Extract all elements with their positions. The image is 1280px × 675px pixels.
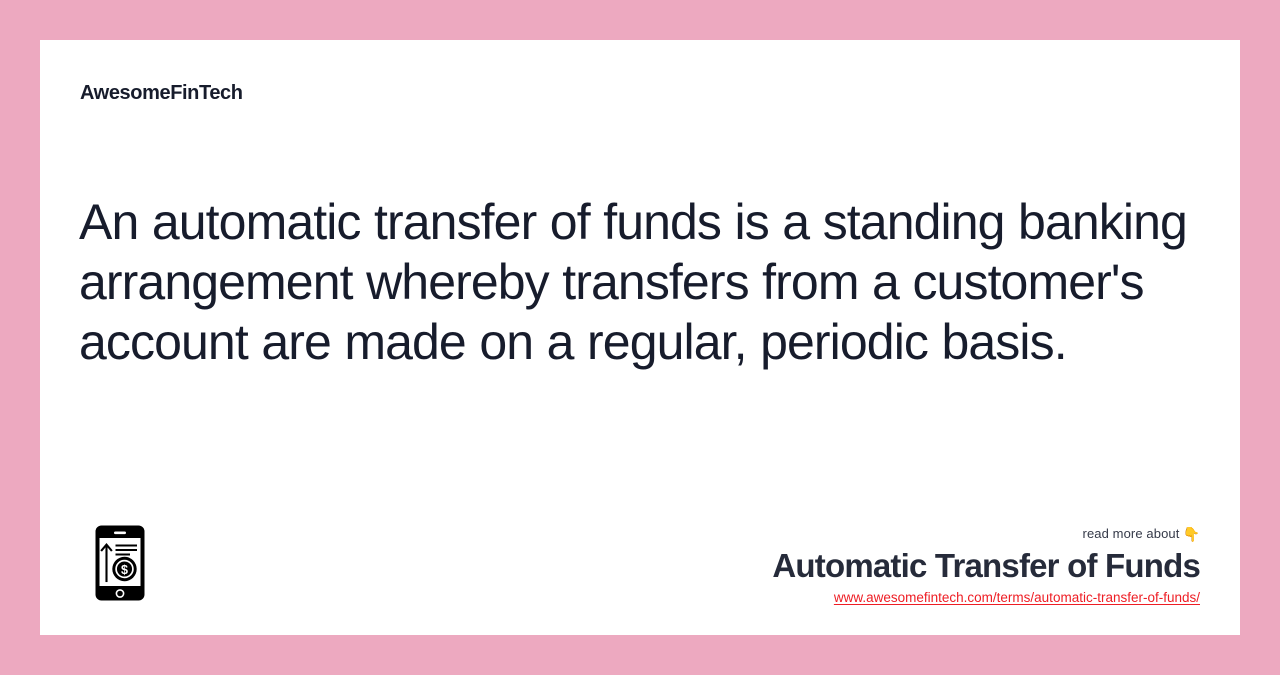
definition-text: An automatic transfer of funds is a stan… xyxy=(79,192,1199,372)
term-title: Automatic Transfer of Funds xyxy=(772,546,1200,586)
definition-card: AwesomeFinTech An automatic transfer of … xyxy=(40,40,1240,635)
pointing-down-icon: 👇 xyxy=(1182,526,1200,542)
svg-text:$: $ xyxy=(121,563,128,577)
footer-row: $ read more about👇 Automatic Transfer of… xyxy=(40,507,1240,607)
read-more-label: read more about👇 xyxy=(772,526,1200,542)
term-meta-block: read more about👇 Automatic Transfer of F… xyxy=(772,526,1200,607)
screenshot-stage: AwesomeFinTech An automatic transfer of … xyxy=(0,0,1280,675)
mobile-money-transfer-icon: $ xyxy=(94,524,146,602)
brand-logo[interactable]: AwesomeFinTech xyxy=(80,82,243,105)
read-more-text: read more about xyxy=(1083,526,1180,541)
term-url-link[interactable]: www.awesomefintech.com/terms/automatic-t… xyxy=(834,589,1200,606)
